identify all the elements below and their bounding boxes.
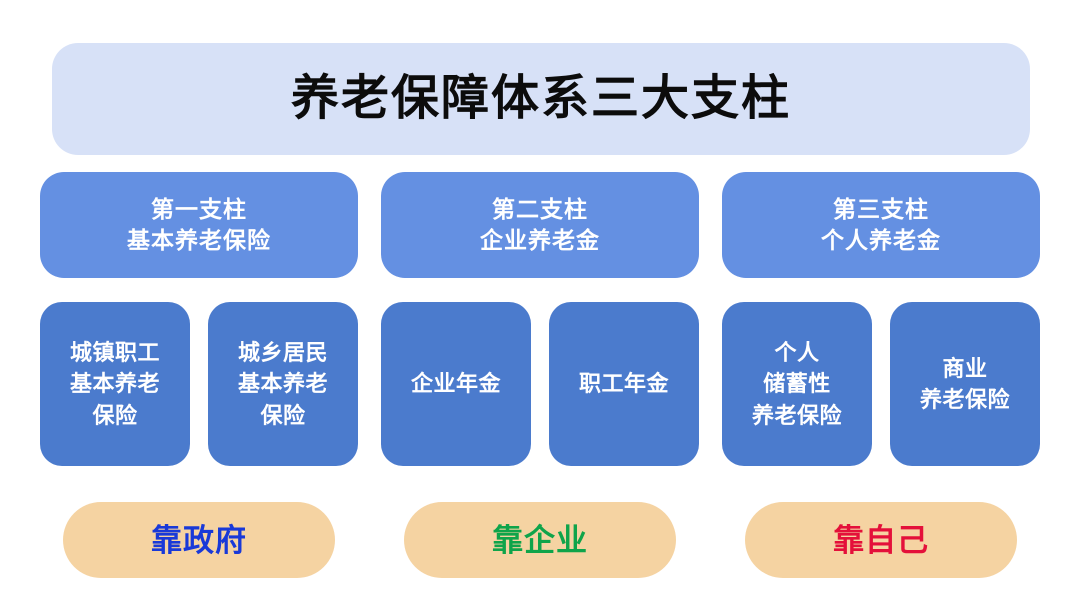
- pill-wrap-1: 靠政府: [40, 502, 358, 578]
- sub-card-1-2[interactable]: 城乡居民 基本养老 保险: [208, 302, 358, 466]
- sub-card-1-1-line-1: 城镇职工: [70, 337, 160, 368]
- reliance-pill-1[interactable]: 靠政府: [63, 502, 335, 578]
- sub-card-2-1[interactable]: 企业年金: [381, 302, 531, 466]
- sub-card-3-1[interactable]: 个人 储蓄性 养老保险: [722, 302, 872, 466]
- pillar-card-3[interactable]: 第三支柱 个人养老金: [722, 172, 1040, 278]
- sub-card-2-2[interactable]: 职工年金: [549, 302, 699, 466]
- pillar-card-2-line-1: 第二支柱: [492, 194, 588, 225]
- reliance-pill-3-label: 靠自己: [833, 525, 929, 556]
- pill-wrap-3: 靠自己: [722, 502, 1040, 578]
- reliance-pill-3[interactable]: 靠自己: [745, 502, 1017, 578]
- sub-card-3-2[interactable]: 商业 养老保险: [890, 302, 1040, 466]
- sub-card-1-2-line-2: 基本养老: [238, 368, 328, 399]
- sub-card-row-3: 个人 储蓄性 养老保险 商业 养老保险: [722, 302, 1040, 466]
- reliance-pill-2[interactable]: 靠企业: [404, 502, 676, 578]
- sub-card-3-2-line-2: 养老保险: [920, 384, 1010, 415]
- pillar-column-3: 第三支柱 个人养老金 个人 储蓄性 养老保险 商业 养老保险 靠自己: [722, 172, 1040, 582]
- sub-card-row-2: 企业年金 职工年金: [381, 302, 699, 466]
- sub-card-3-2-line-1: 商业: [942, 353, 987, 384]
- pillar-columns: 第一支柱 基本养老保险 城镇职工 基本养老 保险 城乡居民 基本养老 保险 靠政…: [40, 172, 1040, 582]
- pillar-column-1: 第一支柱 基本养老保险 城镇职工 基本养老 保险 城乡居民 基本养老 保险 靠政…: [40, 172, 358, 582]
- pillar-card-3-line-1: 第三支柱: [833, 194, 929, 225]
- sub-card-2-2-line-1: 职工年金: [579, 368, 669, 399]
- sub-card-row-1: 城镇职工 基本养老 保险 城乡居民 基本养老 保险: [40, 302, 358, 466]
- sub-card-3-1-line-1: 个人: [774, 337, 819, 368]
- sub-card-1-1[interactable]: 城镇职工 基本养老 保险: [40, 302, 190, 466]
- sub-card-1-1-line-2: 基本养老: [70, 368, 160, 399]
- pillar-card-3-line-2: 个人养老金: [821, 225, 941, 256]
- reliance-pill-2-label: 靠企业: [492, 525, 588, 556]
- pill-wrap-2: 靠企业: [381, 502, 699, 578]
- sub-card-1-2-line-3: 保险: [260, 400, 305, 431]
- pillar-card-2-line-2: 企业养老金: [480, 225, 600, 256]
- pillar-card-1-line-1: 第一支柱: [151, 194, 247, 225]
- sub-card-2-1-line-1: 企业年金: [411, 368, 501, 399]
- sub-card-1-2-line-1: 城乡居民: [238, 337, 328, 368]
- page-title: 养老保障体系三大支柱: [291, 75, 791, 123]
- pillar-card-2[interactable]: 第二支柱 企业养老金: [381, 172, 699, 278]
- pillar-card-1[interactable]: 第一支柱 基本养老保险: [40, 172, 358, 278]
- sub-card-1-1-line-3: 保险: [92, 400, 137, 431]
- sub-card-3-1-line-2: 储蓄性: [763, 368, 831, 399]
- title-band: 养老保障体系三大支柱: [52, 43, 1030, 155]
- reliance-pill-1-label: 靠政府: [151, 525, 247, 556]
- sub-card-3-1-line-3: 养老保险: [752, 400, 842, 431]
- pillar-card-1-line-2: 基本养老保险: [127, 225, 271, 256]
- infographic-canvas: 养老保障体系三大支柱 第一支柱 基本养老保险 城镇职工 基本养老 保险 城乡居民…: [0, 0, 1080, 612]
- pillar-column-2: 第二支柱 企业养老金 企业年金 职工年金 靠企业: [381, 172, 699, 582]
